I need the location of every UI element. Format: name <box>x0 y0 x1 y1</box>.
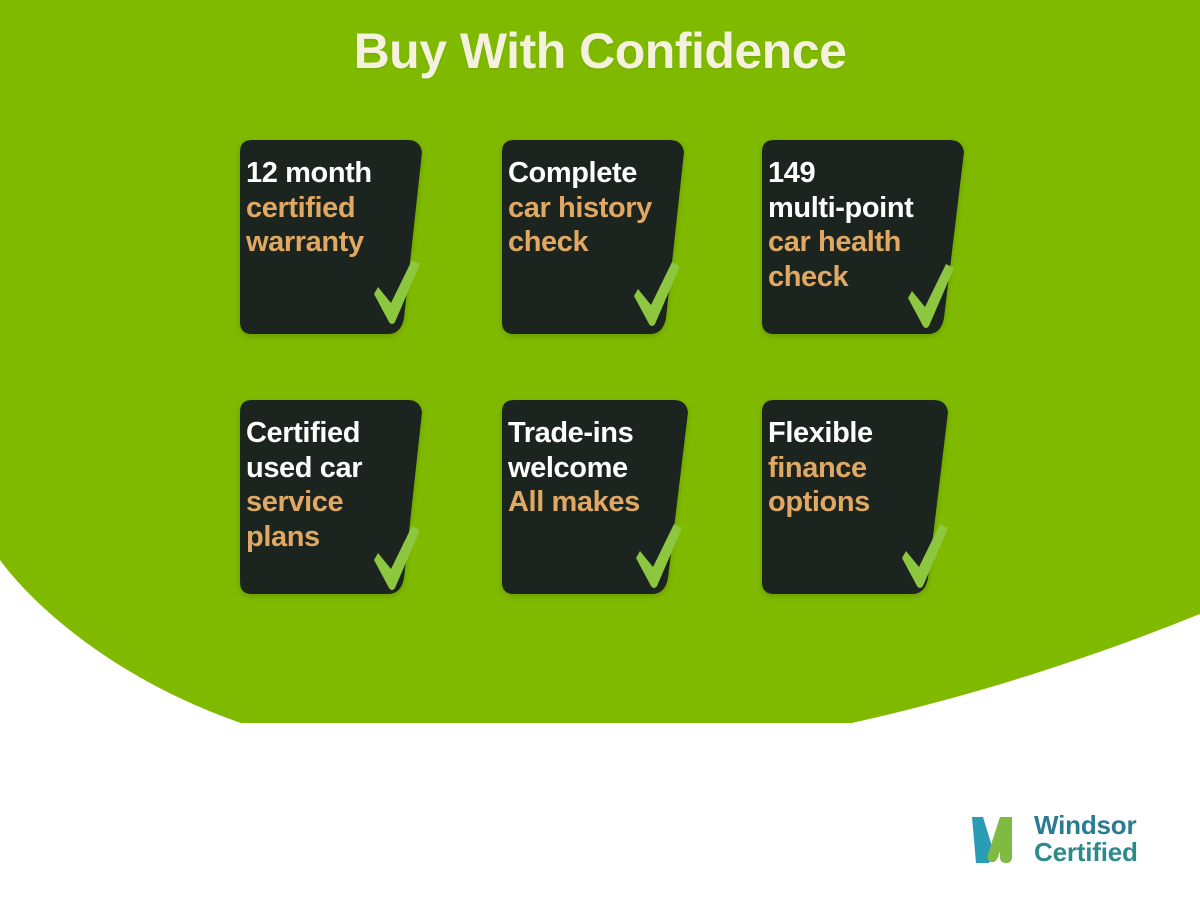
check-icon <box>628 258 684 328</box>
feature-cards-row-2: Certified used car service plans Trade-i… <box>0 398 1200 610</box>
brand-logo[interactable]: Windsor Certified <box>968 812 1138 866</box>
feature-card[interactable]: Complete car history check <box>490 138 718 343</box>
card-line: used car <box>246 451 436 486</box>
check-icon <box>902 260 958 330</box>
check-icon <box>368 256 424 326</box>
feature-card[interactable]: Flexible finance options <box>750 398 978 603</box>
card-line: multi-point <box>768 191 958 226</box>
card-text: Complete car history check <box>508 156 698 260</box>
feature-card[interactable]: Trade-ins welcome All makes <box>490 398 718 603</box>
check-icon <box>630 520 686 590</box>
card-text: Flexible finance options <box>768 416 958 520</box>
card-line: car health <box>768 225 958 260</box>
card-line: Certified <box>246 416 436 451</box>
feature-card[interactable]: 12 month certified warranty <box>228 138 456 343</box>
card-line: certified <box>246 191 436 226</box>
windsor-w-mark-icon <box>968 813 1024 865</box>
check-icon <box>368 522 424 592</box>
card-line: All makes <box>508 485 698 520</box>
feature-cards-row-1: 12 month certified warranty Complete car… <box>0 138 1200 350</box>
feature-card[interactable]: Certified used car service plans <box>228 398 456 603</box>
card-line: 149 <box>768 156 958 191</box>
promo-graphic: Buy With Confidence 12 month certified w… <box>0 0 1200 900</box>
card-text: 12 month certified warranty <box>246 156 436 260</box>
feature-card[interactable]: 149 multi-point car health check <box>750 138 978 343</box>
check-icon <box>896 520 952 590</box>
card-line: warranty <box>246 225 436 260</box>
card-line: service <box>246 485 436 520</box>
card-line: options <box>768 485 958 520</box>
feature-cards-grid: 12 month certified warranty Complete car… <box>0 138 1200 610</box>
logo-line-windsor: Windsor <box>1034 812 1138 839</box>
card-line: Flexible <box>768 416 958 451</box>
card-line: 12 month <box>246 156 436 191</box>
card-line: finance <box>768 451 958 486</box>
card-line: car history <box>508 191 698 226</box>
card-line: Trade-ins <box>508 416 698 451</box>
card-text: Trade-ins welcome All makes <box>508 416 698 520</box>
card-line: check <box>508 225 698 260</box>
card-line: Complete <box>508 156 698 191</box>
page-title: Buy With Confidence <box>0 22 1200 80</box>
logo-wordmark: Windsor Certified <box>1034 812 1138 866</box>
logo-line-certified: Certified <box>1034 839 1138 866</box>
card-line: welcome <box>508 451 698 486</box>
